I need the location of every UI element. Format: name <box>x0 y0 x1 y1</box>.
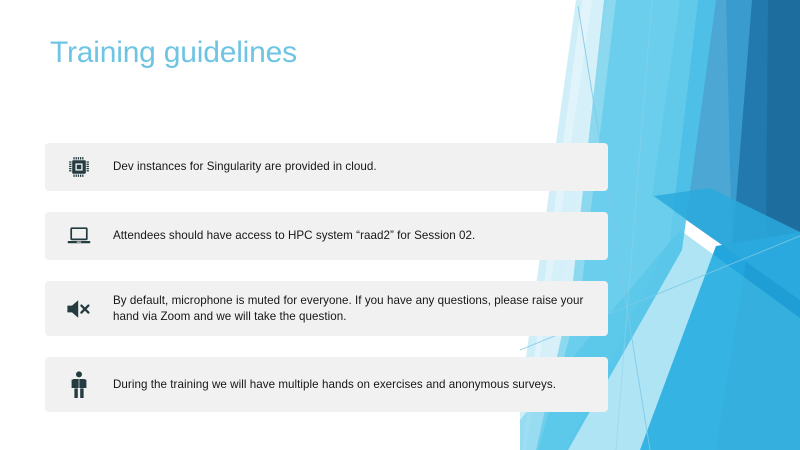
laptop-icon <box>45 212 113 260</box>
speaker-mute-icon-svg <box>65 298 93 320</box>
decor-shape-bright-mid-triangle <box>654 188 800 300</box>
cpu-chip-icon-svg <box>67 155 91 179</box>
decor-shape-dark-right <box>726 0 800 300</box>
person-icon <box>45 357 113 412</box>
laptop-icon-svg <box>66 225 92 247</box>
decor-shape-bright-bottom-2 <box>716 262 800 450</box>
cpu-chip-icon <box>45 143 113 191</box>
list-item-text: During the training we will have multipl… <box>113 377 598 392</box>
decor-shape-bright-bottom <box>640 232 800 450</box>
slide-canvas: Training guidelines <box>0 0 800 450</box>
decor-shape-dark-right-2 <box>766 0 800 260</box>
decor-shape-mid-band <box>652 0 752 252</box>
guidelines-list: Dev instances for Singularity are provid… <box>45 143 608 412</box>
list-item-text: Attendees should have access to HPC syst… <box>113 228 598 243</box>
list-item: Attendees should have access to HPC syst… <box>45 212 608 260</box>
slide-title: Training guidelines <box>50 36 297 71</box>
speaker-mute-icon <box>45 281 113 336</box>
list-item-text: By default, microphone is muted for ever… <box>113 293 598 323</box>
person-icon-svg <box>69 370 89 400</box>
list-item: Dev instances for Singularity are provid… <box>45 143 608 191</box>
list-item-text: Dev instances for Singularity are provid… <box>113 159 598 174</box>
list-item: During the training we will have multipl… <box>45 357 608 412</box>
list-item: By default, microphone is muted for ever… <box>45 281 608 336</box>
decor-hairline-3 <box>616 0 652 450</box>
